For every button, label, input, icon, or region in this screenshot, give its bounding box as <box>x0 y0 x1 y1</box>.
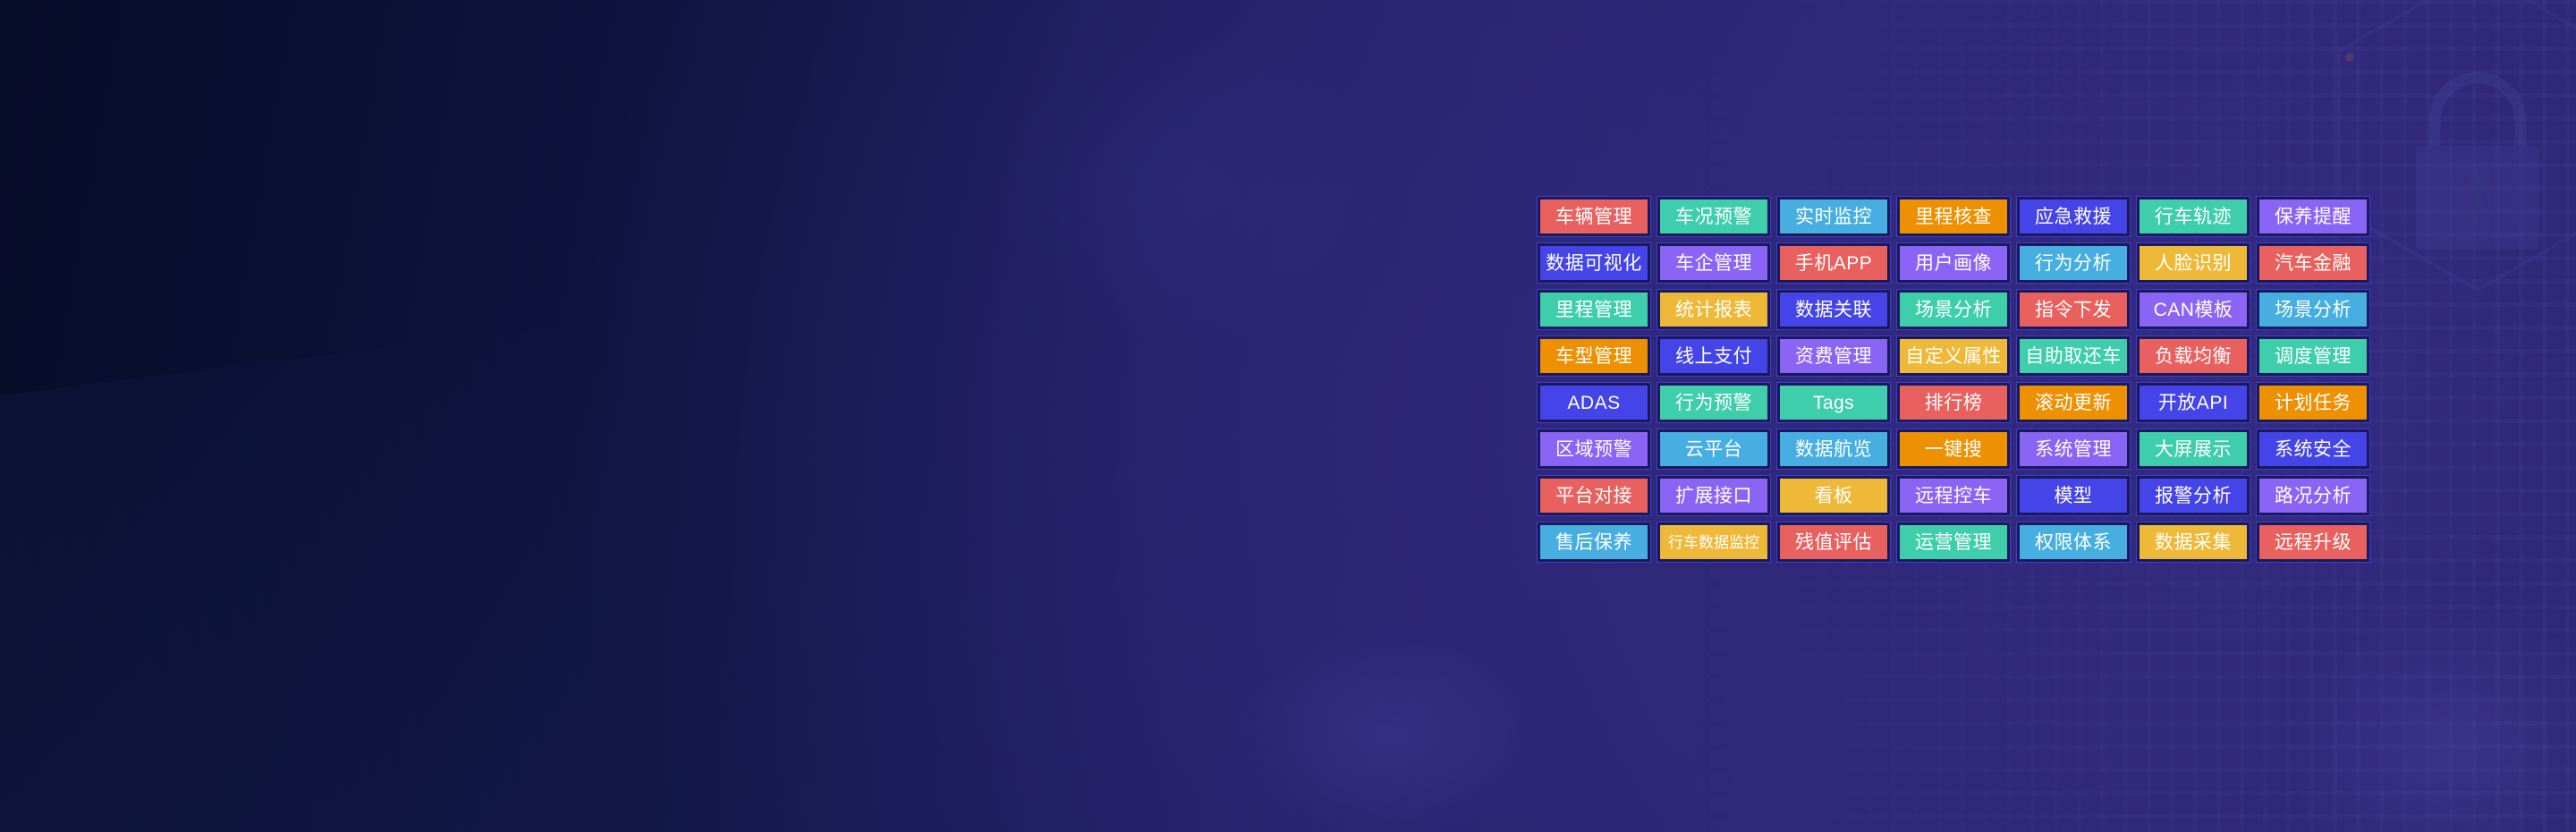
feature-tag[interactable]: 售后保养 <box>1537 522 1651 563</box>
feature-tag-label[interactable]: 系统安全 <box>2259 432 2367 466</box>
feature-tag[interactable]: 调度管理 <box>2256 335 2370 377</box>
feature-tag[interactable]: 一键搜 <box>1896 429 2011 470</box>
feature-tag-label[interactable]: 滚动更新 <box>2020 386 2127 420</box>
feature-tag-label[interactable]: CAN模板 <box>2140 293 2247 327</box>
feature-tag-label[interactable]: 远程控车 <box>1900 479 2007 513</box>
feature-tag[interactable]: 统计报表 <box>1657 289 1771 330</box>
feature-tag[interactable]: 排行榜 <box>1896 382 2011 423</box>
feature-tag[interactable]: 车企管理 <box>1657 242 1771 284</box>
feature-tag[interactable]: 行为分析 <box>2016 242 2131 284</box>
feature-tag[interactable]: 系统安全 <box>2256 429 2370 470</box>
feature-tag-label[interactable]: 平台对接 <box>1540 479 1648 513</box>
feature-tag[interactable]: CAN模板 <box>2136 289 2250 330</box>
feature-tag[interactable]: 车辆管理 <box>1537 196 1651 237</box>
feature-tag[interactable]: 权限体系 <box>2016 522 2131 563</box>
feature-tag-label[interactable]: 区域预警 <box>1540 432 1648 466</box>
feature-tag[interactable]: 人脸识别 <box>2136 242 2250 284</box>
feature-tag-label[interactable]: 报警分析 <box>2140 479 2247 513</box>
feature-tag[interactable]: 看板 <box>1776 475 1891 516</box>
feature-tag-label[interactable]: 负载均衡 <box>2140 339 2247 373</box>
feature-tag-label[interactable]: 售后保养 <box>1540 525 1648 559</box>
feature-tag[interactable]: 报警分析 <box>2136 475 2250 516</box>
feature-tag-label[interactable]: 行为预警 <box>1660 386 1767 420</box>
feature-tag-label[interactable]: 自定义属性 <box>1900 339 2007 373</box>
feature-tag[interactable]: 残值评估 <box>1776 522 1891 563</box>
feature-tag-label[interactable]: 汽车金融 <box>2259 246 2367 280</box>
feature-tag-label[interactable]: 应急救援 <box>2020 200 2127 233</box>
feature-tag[interactable]: 场景分析 <box>2256 289 2370 330</box>
feature-tag-label[interactable]: 云平台 <box>1660 432 1767 466</box>
feature-tag[interactable]: 数据关联 <box>1776 289 1891 330</box>
feature-tag-label[interactable]: 行为分析 <box>2020 246 2127 280</box>
feature-tag-label[interactable]: 开放API <box>2140 386 2247 420</box>
feature-tag-label[interactable]: 里程核查 <box>1900 200 2007 233</box>
feature-tag-label[interactable]: 远程升级 <box>2259 525 2367 559</box>
feature-tag[interactable]: 数据采集 <box>2136 522 2250 563</box>
feature-tag[interactable]: 实时监控 <box>1776 196 1891 237</box>
feature-tag[interactable]: 用户画像 <box>1896 242 2011 284</box>
feature-tag[interactable]: 大屏展示 <box>2136 429 2250 470</box>
feature-tag[interactable]: 行为预警 <box>1657 382 1771 423</box>
feature-tag[interactable]: 云平台 <box>1657 429 1771 470</box>
feature-tag-label[interactable]: 里程管理 <box>1540 293 1648 327</box>
feature-tag-label[interactable]: 一键搜 <box>1900 432 2007 466</box>
feature-tag-label[interactable]: 模型 <box>2020 479 2127 513</box>
feature-tag[interactable]: 系统管理 <box>2016 429 2131 470</box>
feature-tag[interactable]: 指令下发 <box>2016 289 2131 330</box>
feature-tag[interactable]: 路况分析 <box>2256 475 2370 516</box>
feature-tag-label[interactable]: 车企管理 <box>1660 246 1767 280</box>
feature-tag[interactable]: 保养提醒 <box>2256 196 2370 237</box>
feature-tag[interactable]: 模型 <box>2016 475 2131 516</box>
feature-tag[interactable]: 行车数据监控 <box>1657 522 1771 563</box>
feature-tag[interactable]: 区域预警 <box>1537 429 1651 470</box>
feature-tag-label[interactable]: 场景分析 <box>1900 293 2007 327</box>
feature-tag-label[interactable]: 车况预警 <box>1660 200 1767 233</box>
feature-tag-label[interactable]: 数据航览 <box>1780 432 1887 466</box>
feature-tag-label[interactable]: 实时监控 <box>1780 200 1887 233</box>
feature-tag[interactable]: 远程控车 <box>1896 475 2011 516</box>
feature-tag[interactable]: 计划任务 <box>2256 382 2370 423</box>
feature-tag[interactable]: 里程管理 <box>1537 289 1651 330</box>
feature-tag[interactable]: 线上支付 <box>1657 335 1771 377</box>
feature-tag[interactable]: ADAS <box>1537 382 1651 423</box>
feature-tag[interactable]: 车况预警 <box>1657 196 1771 237</box>
feature-tag-label[interactable]: 手机APP <box>1780 246 1887 280</box>
feature-tag[interactable]: 开放API <box>2136 382 2250 423</box>
feature-tag[interactable]: 负载均衡 <box>2136 335 2250 377</box>
feature-tag[interactable]: 平台对接 <box>1537 475 1651 516</box>
feature-tag-label[interactable]: 统计报表 <box>1660 293 1767 327</box>
feature-tag[interactable]: 运营管理 <box>1896 522 2011 563</box>
feature-tag[interactable]: 扩展接口 <box>1657 475 1771 516</box>
feature-tag-label[interactable]: 自助取还车 <box>2020 339 2127 373</box>
feature-tag[interactable]: 场景分析 <box>1896 289 2011 330</box>
feature-tag-label[interactable]: 数据关联 <box>1780 293 1887 327</box>
feature-tag-label[interactable]: 权限体系 <box>2020 525 2127 559</box>
feature-tag-label[interactable]: 大屏展示 <box>2140 432 2247 466</box>
feature-tag[interactable]: 远程升级 <box>2256 522 2370 563</box>
feature-tag[interactable]: 自助取还车 <box>2016 335 2131 377</box>
feature-tag[interactable]: 自定义属性 <box>1896 335 2011 377</box>
feature-tag[interactable]: 资费管理 <box>1776 335 1891 377</box>
feature-tag[interactable]: 行车轨迹 <box>2136 196 2250 237</box>
feature-tag-label[interactable]: 保养提醒 <box>2259 200 2367 233</box>
feature-tag-label[interactable]: 看板 <box>1780 479 1887 513</box>
feature-tag-label[interactable]: 计划任务 <box>2259 386 2367 420</box>
feature-tag-label[interactable]: 人脸识别 <box>2140 246 2247 280</box>
feature-tag-label[interactable]: 运营管理 <box>1900 525 2007 559</box>
feature-tag-label[interactable]: 调度管理 <box>2259 339 2367 373</box>
feature-tag-label[interactable]: 残值评估 <box>1780 525 1887 559</box>
feature-tag[interactable]: 手机APP <box>1776 242 1891 284</box>
feature-tag-label[interactable]: Tags <box>1780 386 1887 420</box>
feature-tag[interactable]: Tags <box>1776 382 1891 423</box>
feature-tag[interactable]: 里程核查 <box>1896 196 2011 237</box>
feature-tag-label[interactable]: 指令下发 <box>2020 293 2127 327</box>
feature-tag[interactable]: 数据航览 <box>1776 429 1891 470</box>
feature-tag-label[interactable]: 数据采集 <box>2140 525 2247 559</box>
feature-tag[interactable]: 应急救援 <box>2016 196 2131 237</box>
feature-tag[interactable]: 汽车金融 <box>2256 242 2370 284</box>
feature-tag-label[interactable]: 资费管理 <box>1780 339 1887 373</box>
feature-tag-label[interactable]: 线上支付 <box>1660 339 1767 373</box>
feature-tag[interactable]: 数据可视化 <box>1537 242 1651 284</box>
feature-tag[interactable]: 滚动更新 <box>2016 382 2131 423</box>
feature-tag-label[interactable]: 系统管理 <box>2020 432 2127 466</box>
feature-tag-label[interactable]: ADAS <box>1540 386 1648 420</box>
feature-tag-grid: 车辆管理车况预警实时监控里程核查应急救援行车轨迹保养提醒数据可视化车企管理手机A… <box>1537 196 2370 563</box>
feature-tag-label[interactable]: 车辆管理 <box>1540 200 1648 233</box>
feature-tag-label[interactable]: 扩展接口 <box>1660 479 1767 513</box>
feature-tag-label[interactable]: 场景分析 <box>2259 293 2367 327</box>
feature-tag-label[interactable]: 用户画像 <box>1900 246 2007 280</box>
feature-tag[interactable]: 车型管理 <box>1537 335 1651 377</box>
feature-tag-label[interactable]: 排行榜 <box>1900 386 2007 420</box>
feature-tag-label[interactable]: 车型管理 <box>1540 339 1648 373</box>
feature-tag-label[interactable]: 行车轨迹 <box>2140 200 2247 233</box>
feature-tag-label[interactable]: 行车数据监控 <box>1660 525 1767 559</box>
feature-tag-label[interactable]: 数据可视化 <box>1540 246 1648 280</box>
feature-tag-label[interactable]: 路况分析 <box>2259 479 2367 513</box>
